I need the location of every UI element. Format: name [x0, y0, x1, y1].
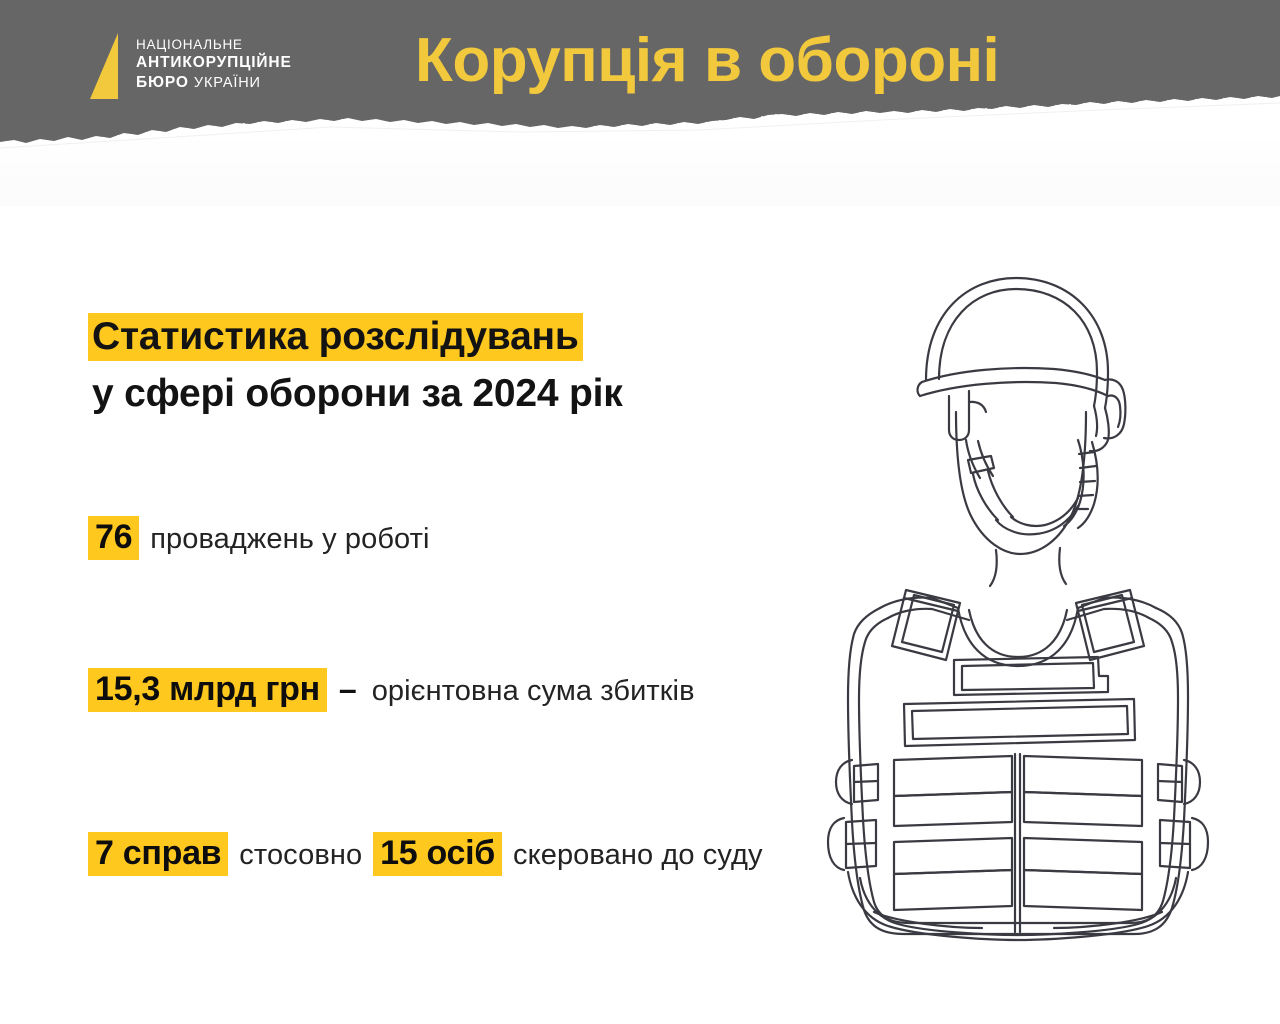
stat-value-76: 76 [88, 516, 139, 560]
nabu-logo: НАЦІОНАЛЬНЕ АНТИКОРУПЦІЙНЕ БЮРО УКРАЇНИ [88, 33, 292, 105]
stat-row-cases-in-progress: 76 проваджень у роботі [88, 516, 430, 560]
logo-line-1: НАЦІОНАЛЬНЕ [136, 36, 292, 53]
stat-label-regarding: стосовно [228, 841, 362, 870]
page-title: Корупція в обороні [415, 28, 1115, 93]
stat-label-sent-to-court: скеровано до суду [502, 841, 763, 870]
heading-line-2: у сфері оборони за 2024 рік [88, 369, 728, 420]
helmet-icon [918, 278, 1126, 534]
logo-line-3-thin: УКРАЇНИ [194, 75, 261, 91]
stat-value-persons-15: 15 осіб [373, 832, 502, 876]
stat-label-damages: орієнтовна сума збитків [361, 677, 695, 706]
tactical-vest-icon [828, 590, 1208, 940]
heading-line-1-highlight: Статистика розслідувань [88, 313, 583, 361]
soldier-body-armor-illustration [808, 262, 1228, 952]
stat-row-damages: 15,3 млрд грн – орієнтовна сума збитків [88, 668, 695, 712]
logo-line-3-bold: БЮРО [136, 74, 189, 91]
stat-label-cases-in-progress: проваджень у роботі [139, 525, 429, 554]
logo-line-2: АНТИКОРУПЦІЙНЕ [136, 53, 292, 73]
content-area: Статистика розслідувань у сфері оборони … [0, 0, 1280, 1024]
stat-value-cases-7: 7 справ [88, 832, 228, 876]
stat-row-sent-to-court: 7 справ стосовно 15 осіб скеровано до су… [88, 832, 763, 876]
nabu-wedge-icon [88, 33, 122, 105]
logo-line-3: БЮРО УКРАЇНИ [136, 73, 292, 93]
infographic-page: НАЦІОНАЛЬНЕ АНТИКОРУПЦІЙНЕ БЮРО УКРАЇНИ … [0, 0, 1280, 1024]
nabu-logo-text: НАЦІОНАЛЬНЕ АНТИКОРУПЦІЙНЕ БЮРО УКРАЇНИ [136, 33, 292, 93]
section-heading: Статистика розслідувань у сфері оборони … [88, 312, 728, 419]
stat-value-damages: 15,3 млрд грн [88, 668, 327, 712]
heading-line-1: Статистика розслідувань [88, 312, 728, 363]
stat-dash: – [327, 673, 361, 705]
